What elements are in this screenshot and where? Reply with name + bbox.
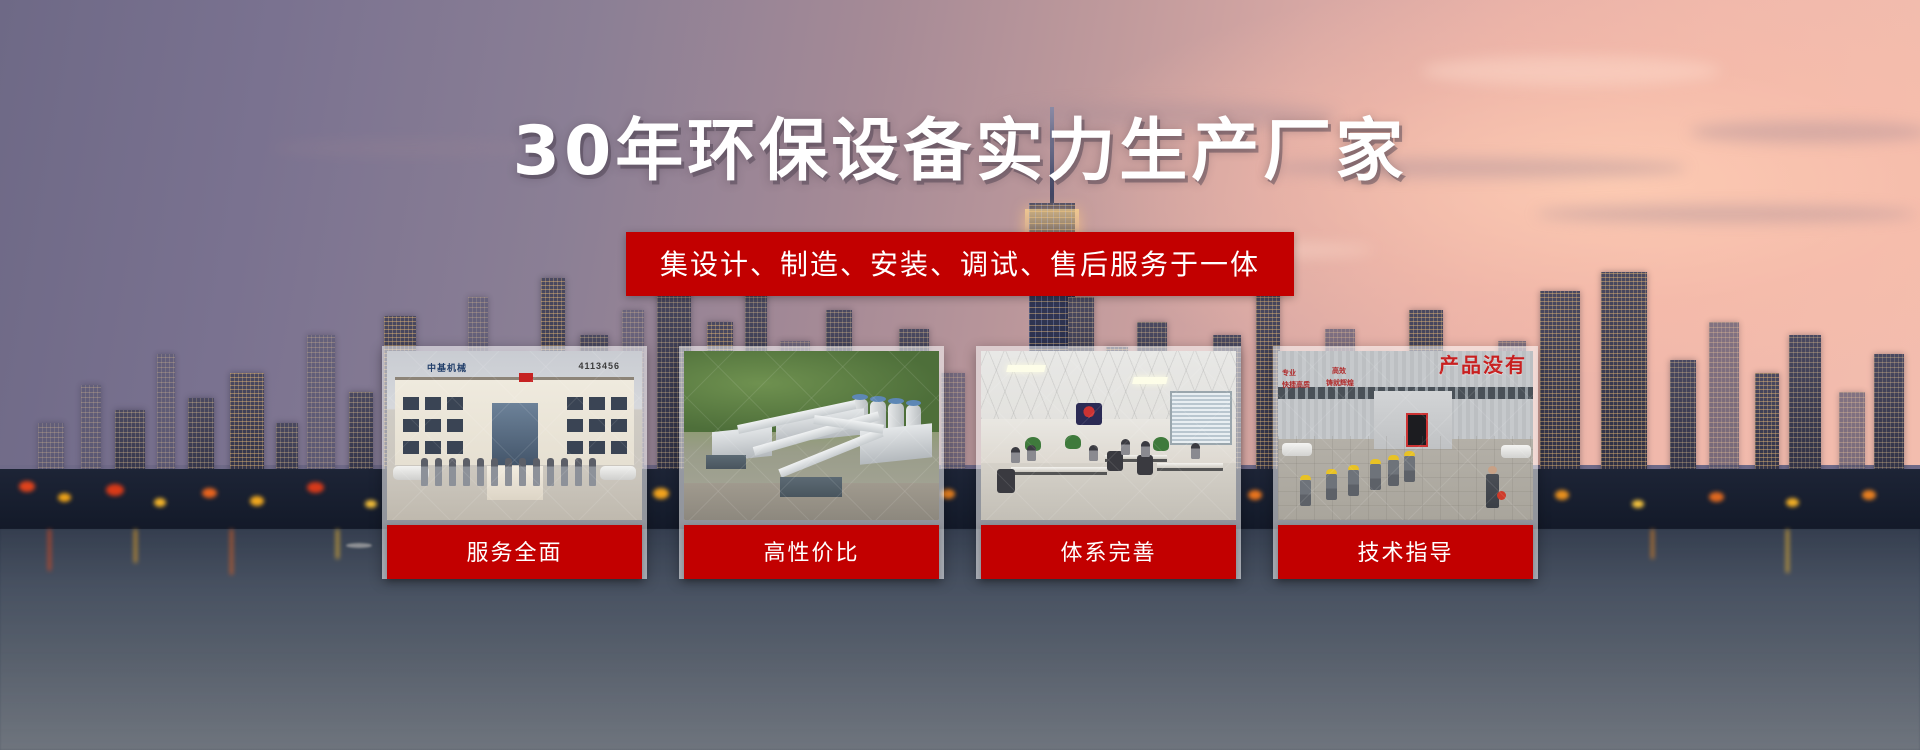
- page-title: 30年环保设备实力生产厂家: [0, 118, 1920, 186]
- card-caption: 技术指导: [1278, 525, 1533, 579]
- feature-card[interactable]: 中基机械 4113456: [382, 346, 647, 579]
- factory-slogan: 专业: [1282, 369, 1296, 378]
- subtitle-ribbon-wrap: 集设计、制造、安装、调试、售后服务于一体: [0, 232, 1920, 296]
- factory-slogan: 快捷高质: [1282, 381, 1310, 390]
- factory-slogan: 铸就辉煌: [1326, 379, 1354, 388]
- card-photo-workers-factory: 产品没有 专业 快捷高质 高效 铸就辉煌: [1278, 351, 1533, 520]
- factory-slogan: 高效: [1332, 367, 1346, 376]
- company-sign-text: 中基机械: [427, 361, 467, 374]
- feature-card[interactable]: 产品没有 专业 快捷高质 高效 铸就辉煌: [1273, 346, 1538, 579]
- subtitle-ribbon: 集设计、制造、安装、调试、售后服务于一体: [626, 232, 1294, 296]
- feature-card[interactable]: 体系完善: [976, 346, 1241, 579]
- cloud: [1421, 56, 1721, 86]
- feature-card-list: 中基机械 4113456: [382, 346, 1538, 579]
- card-photo-headquarters: 中基机械 4113456: [387, 351, 642, 520]
- card-caption: 体系完善: [981, 525, 1236, 579]
- card-caption: 服务全面: [387, 525, 642, 579]
- feature-card[interactable]: 高性价比: [679, 346, 944, 579]
- supervisor-figure: [1486, 466, 1499, 508]
- boat: [346, 543, 372, 548]
- card-photo-plant-aerial: [684, 351, 939, 520]
- card-caption: 高性价比: [684, 525, 939, 579]
- company-phone-text: 4113456: [578, 361, 620, 371]
- card-photo-office-interior: [981, 351, 1236, 520]
- factory-wall-headline: 产品没有: [1439, 355, 1527, 375]
- hero-banner: 30年环保设备实力生产厂家 集设计、制造、安装、调试、售后服务于一体 中基机械 …: [0, 0, 1920, 750]
